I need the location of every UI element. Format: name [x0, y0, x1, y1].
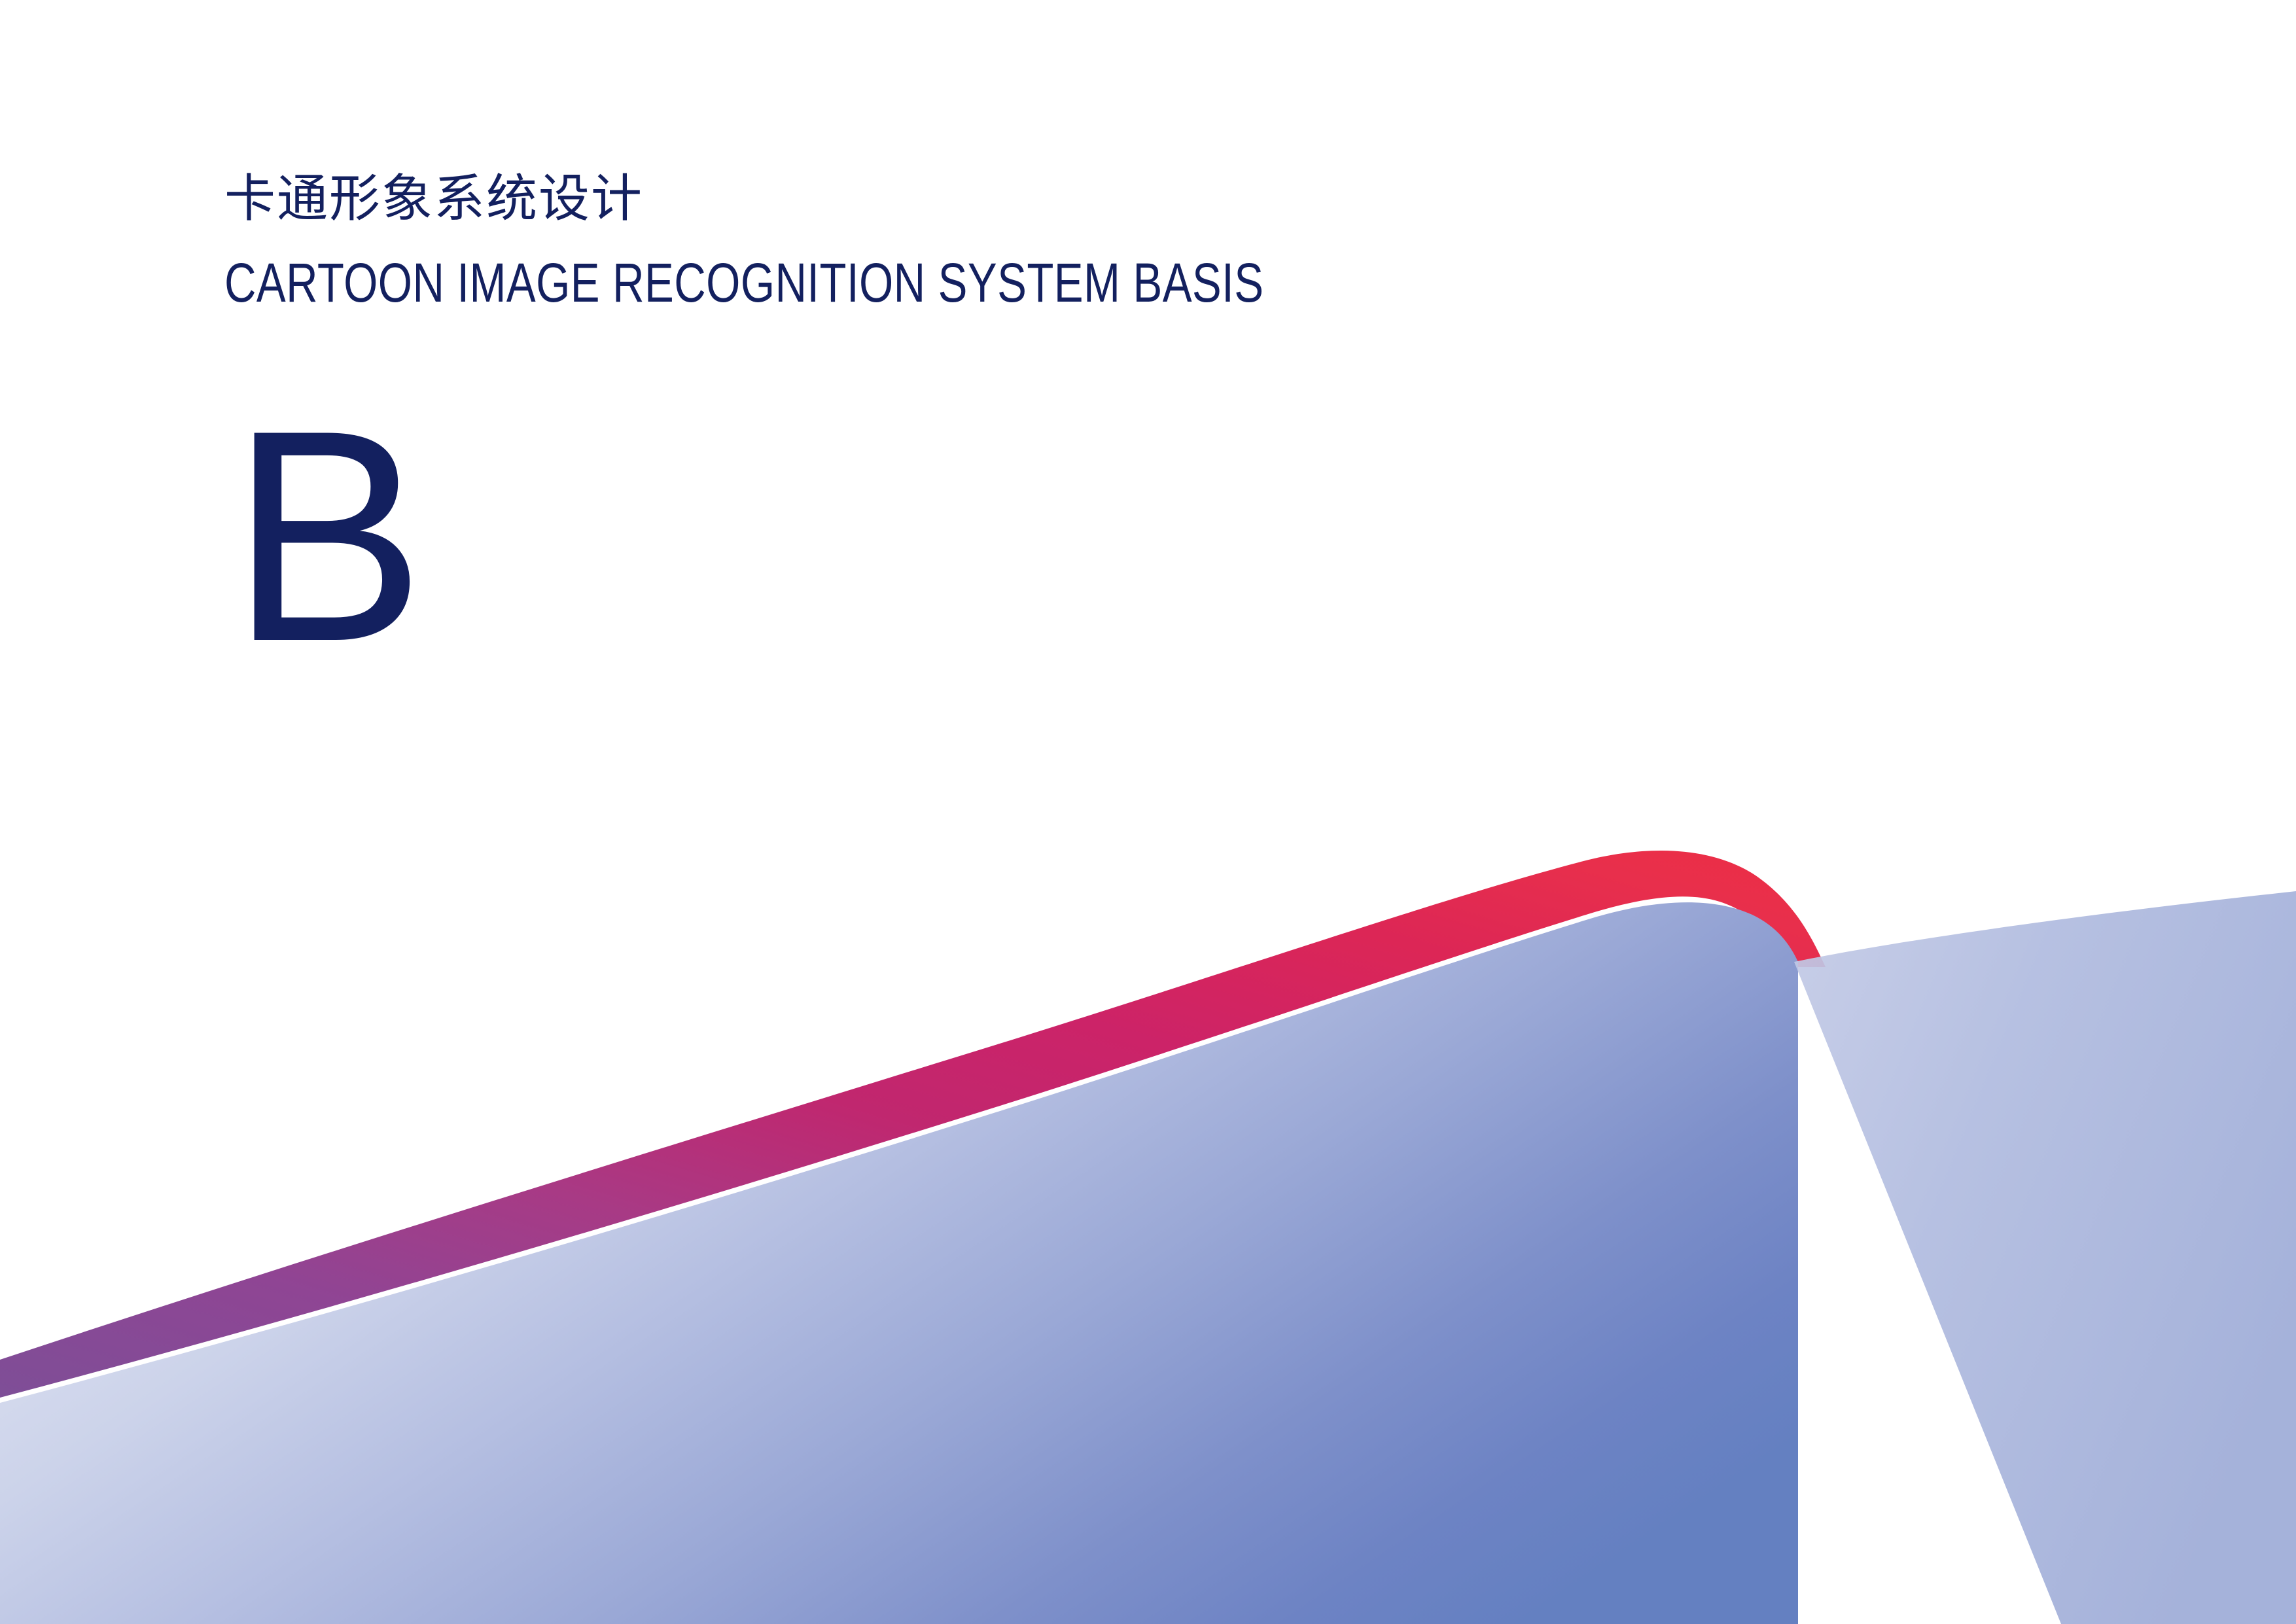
- title-english: CARTOON IMAGE RECOGNITION SYSTEM BASIS: [224, 230, 1376, 310]
- gradient-ribbon: [0, 851, 1826, 1398]
- blue-wave-primary: [0, 902, 1798, 1624]
- page-title: 卡通形象系统设计 CARTOON IMAGE RECOGNITION SYSTE…: [224, 167, 1664, 310]
- title-chinese: 卡通形象系统设计: [224, 167, 1664, 230]
- section-letter: B: [230, 386, 425, 687]
- blue-wave-overlay: [1794, 891, 2296, 1624]
- slide-page: 卡通形象系统设计 CARTOON IMAGE RECOGNITION SYSTE…: [0, 0, 2296, 1624]
